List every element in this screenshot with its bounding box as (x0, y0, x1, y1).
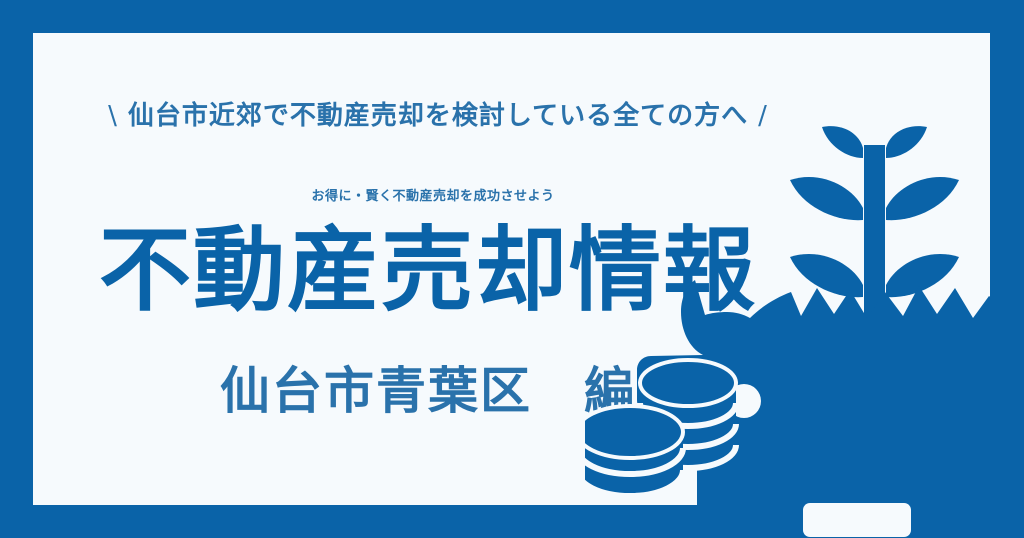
illustration-piggy-bank-with-sprout (585, 100, 1024, 538)
tagline-open-slash: \ (98, 101, 128, 131)
banner: \仙台市近郊で不動産売却を検討している全ての方へ/ お得に・賢く不動産売却を成功… (0, 0, 1024, 538)
coin-stack-short (585, 406, 683, 496)
piggy-bank-foot (803, 503, 911, 537)
